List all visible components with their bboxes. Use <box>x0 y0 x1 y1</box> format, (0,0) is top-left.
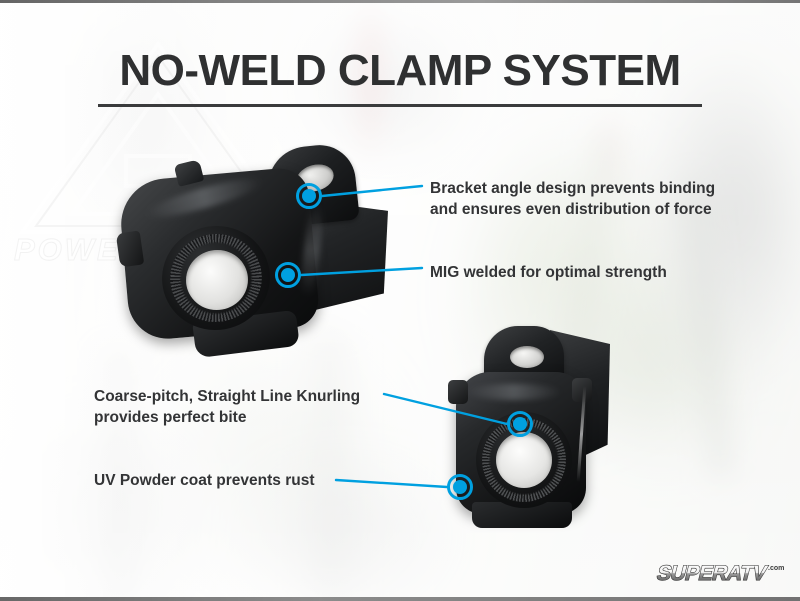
callout-marker-bracket-angle[interactable] <box>296 183 322 209</box>
callout-text-knurling: Coarse-pitch, Straight Line Knurling pro… <box>94 386 360 429</box>
superatv-logo[interactable]: SUPERATV .com <box>638 555 788 589</box>
callout-marker-knurling[interactable] <box>507 411 533 437</box>
product-image-clamp-angled <box>108 138 408 363</box>
callout-marker-dot <box>453 480 467 494</box>
title-underline <box>98 104 702 107</box>
clamp-bolt-boss <box>448 380 468 404</box>
svg-text:.com: .com <box>768 565 784 572</box>
slide-canvas: POWERSPORTS NO-WELD CLAMP SYSTEM <box>0 0 800 601</box>
callout-text-bracket-angle: Bracket angle design prevents binding an… <box>430 178 715 221</box>
callout-text-uv-powder-coat: UV Powder coat prevents rust <box>94 470 315 491</box>
svg-text:SUPERATV: SUPERATV <box>655 561 771 585</box>
callout-text-mig-welded: MIG welded for optimal strength <box>430 262 667 283</box>
callout-marker-dot <box>513 417 527 431</box>
clamp-bracket-hole <box>510 346 544 368</box>
product-image-clamp-front <box>432 322 662 532</box>
clamp-bore-opening <box>496 432 552 488</box>
callout-marker-mig-welded[interactable] <box>275 262 301 288</box>
bottom-frame-edge <box>0 597 800 601</box>
page-title: NO-WELD CLAMP SYSTEM <box>0 48 800 94</box>
callout-marker-dot <box>302 189 316 203</box>
clamp-highlight <box>466 384 562 400</box>
callout-marker-dot <box>281 268 295 282</box>
clamp-bolt-boss <box>116 230 144 267</box>
callout-marker-uv-powder-coat[interactable] <box>447 474 473 500</box>
top-frame-edge <box>0 0 800 3</box>
page-title-wrap: NO-WELD CLAMP SYSTEM <box>0 48 800 94</box>
